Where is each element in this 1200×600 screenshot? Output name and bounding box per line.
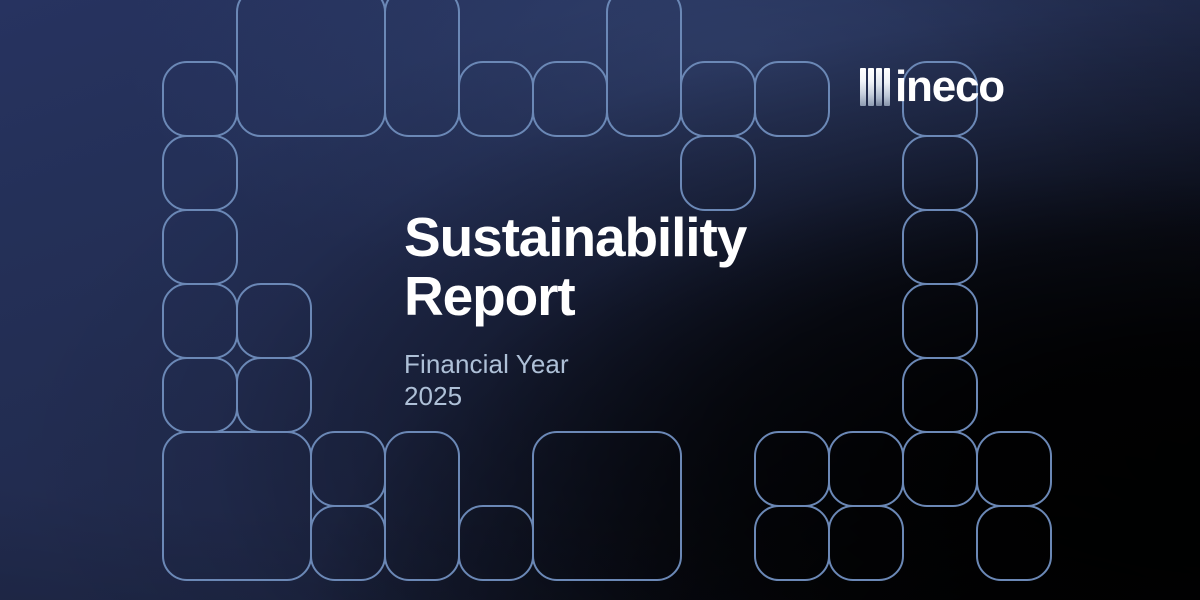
motif-cell — [459, 62, 533, 136]
motif-cell — [385, 0, 459, 136]
motif-cell — [533, 62, 607, 136]
motif-cell — [977, 432, 1051, 506]
motif-cell — [829, 506, 903, 580]
motif-cell — [681, 62, 755, 136]
motif-cell — [163, 358, 237, 432]
motif-cell — [681, 136, 755, 210]
motif-cell — [829, 432, 903, 506]
motif-cell — [903, 136, 977, 210]
title-line-2: Report — [404, 265, 575, 327]
motif-cell — [311, 506, 385, 580]
motif-cell — [163, 210, 237, 284]
motif-cell — [385, 432, 459, 580]
subtitle-line-1: Financial Year — [404, 348, 924, 380]
motif-cell — [237, 0, 385, 136]
motif-cell — [163, 136, 237, 210]
motif-cell — [163, 432, 311, 580]
motif-cell — [163, 62, 237, 136]
motif-cell — [755, 506, 829, 580]
brand-name: ineco — [895, 65, 1004, 109]
brand-logo: ineco — [860, 64, 1004, 110]
page-title: Sustainability Report — [404, 208, 924, 326]
motif-cell — [755, 62, 829, 136]
motif-cell — [607, 0, 681, 136]
motif-cell — [755, 432, 829, 506]
motif-cell — [237, 358, 311, 432]
motif-cell — [533, 432, 681, 580]
motif-cell — [903, 432, 977, 506]
motif-cell — [977, 506, 1051, 580]
page-subtitle: Financial Year 2025 — [404, 348, 924, 412]
report-cover: ineco Sustainability Report Financial Ye… — [0, 0, 1200, 600]
subtitle-line-2: 2025 — [404, 380, 924, 412]
headline-block: Sustainability Report Financial Year 202… — [404, 208, 924, 412]
motif-cell — [311, 432, 385, 506]
title-line-1: Sustainability — [404, 206, 746, 268]
four-bars-icon — [860, 68, 890, 106]
motif-cell — [237, 284, 311, 358]
motif-cell — [459, 506, 533, 580]
motif-cell — [163, 284, 237, 358]
